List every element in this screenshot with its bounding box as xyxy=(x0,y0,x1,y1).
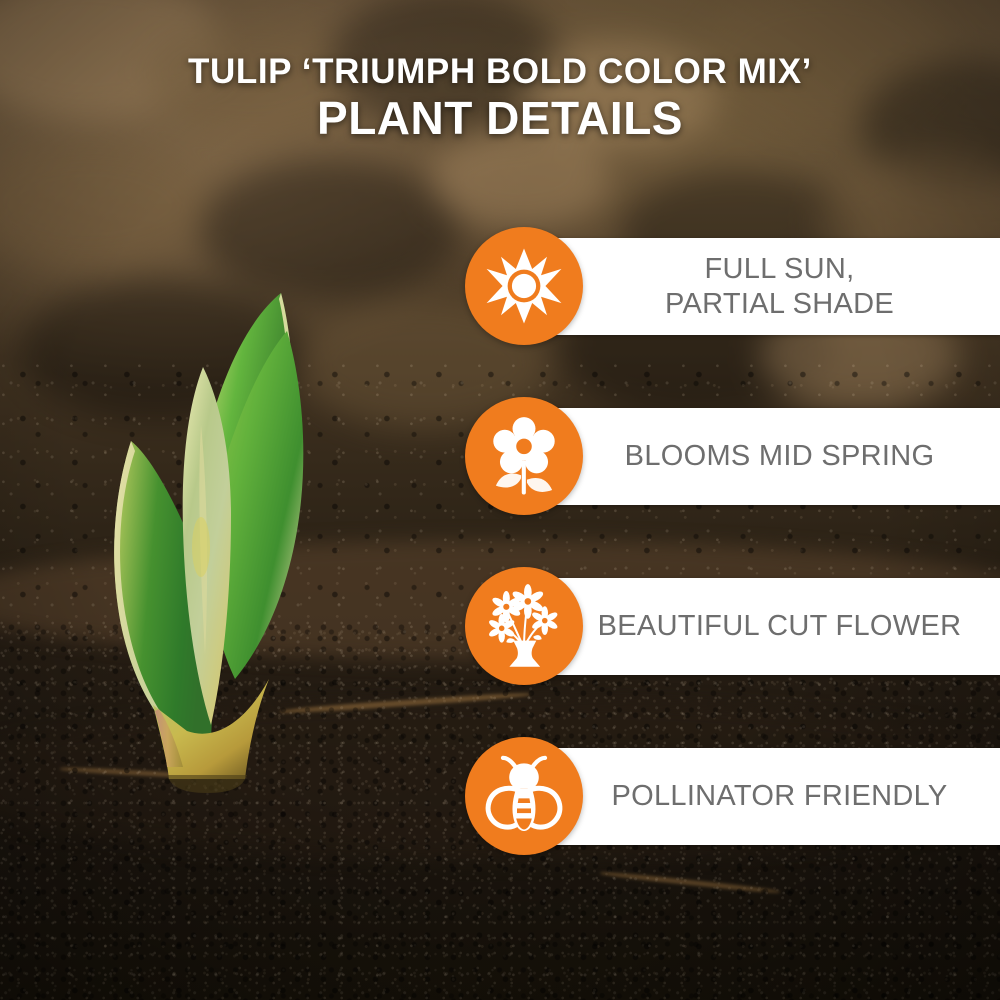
feature-row-cut-flower[interactable]: BEAUTIFUL CUT FLOWER xyxy=(465,567,1000,685)
bee-icon-badge xyxy=(465,737,583,855)
sun-icon xyxy=(485,247,563,325)
bouquet-vase-icon xyxy=(484,584,564,668)
sun-icon-badge xyxy=(465,227,583,345)
feature-label-sun: FULL SUN, PARTIAL SHADE xyxy=(605,252,912,322)
bee-icon xyxy=(482,755,566,837)
flower-icon xyxy=(487,416,561,496)
feature-row-pollinator[interactable]: POLLINATOR FRIENDLY xyxy=(465,737,1000,855)
page-title: TULIP ‘TRIUMPH BOLD COLOR MIX’ PLANT DET… xyxy=(0,52,1000,145)
feature-label-pollinator: POLLINATOR FRIENDLY xyxy=(551,779,965,814)
plant-details-infographic: TULIP ‘TRIUMPH BOLD COLOR MIX’ PLANT DET… xyxy=(0,0,1000,1000)
feature-label-cut-flower: BEAUTIFUL CUT FLOWER xyxy=(538,609,980,644)
feature-row-bloom[interactable]: BLOOMS MID SPRING xyxy=(465,397,1000,515)
flower-icon-badge xyxy=(465,397,583,515)
bouquet-vase-icon-badge xyxy=(465,567,583,685)
feature-bar: FULL SUN, PARTIAL SHADE xyxy=(517,238,1000,335)
feature-bar: BLOOMS MID SPRING xyxy=(517,408,1000,505)
feature-bar: POLLINATOR FRIENDLY xyxy=(517,748,1000,845)
tulip-sprout-photo xyxy=(55,275,355,795)
feature-bar: BEAUTIFUL CUT FLOWER xyxy=(517,578,1000,675)
feature-row-sun[interactable]: FULL SUN, PARTIAL SHADE xyxy=(465,227,1000,345)
title-line-cultivar: TULIP ‘TRIUMPH BOLD COLOR MIX’ xyxy=(0,52,1000,91)
feature-label-bloom: BLOOMS MID SPRING xyxy=(565,439,953,474)
title-line-plant-details: PLANT DETAILS xyxy=(0,93,1000,145)
